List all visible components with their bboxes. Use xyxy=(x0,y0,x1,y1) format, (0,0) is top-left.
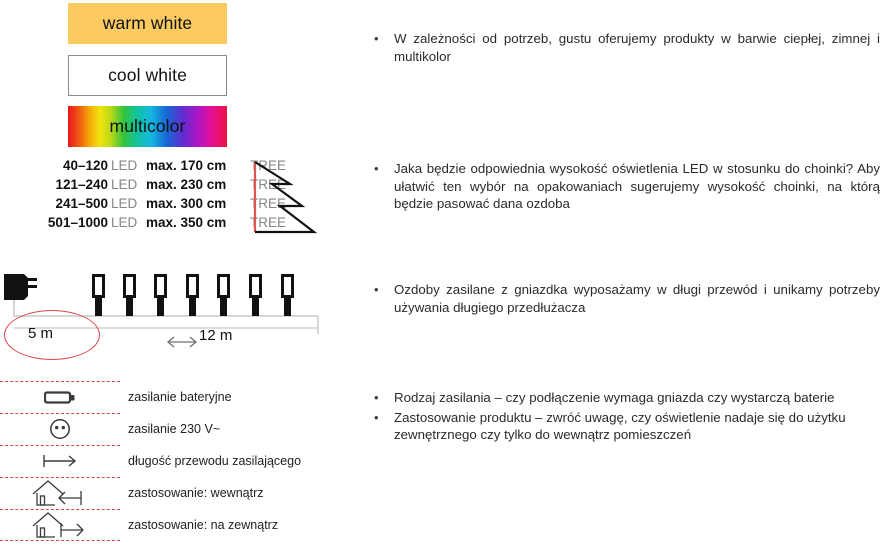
list-item: • Jaka będzie odpowiednia wysokość oświe… xyxy=(368,160,880,213)
symbol-legend: zasilanie bateryjne zasilanie 230 V~ xyxy=(0,381,330,541)
swatch-multicolor: multicolor xyxy=(68,106,227,147)
bullet-text: Zastosowanie produktu – zwróć uwagę, czy… xyxy=(394,409,880,444)
led-unit: LED xyxy=(108,158,146,173)
bulb xyxy=(249,274,262,316)
legend-label: zasilanie bateryjne xyxy=(120,390,232,404)
battery-icon xyxy=(0,389,120,405)
legend-row-socket: zasilanie 230 V~ xyxy=(0,413,330,445)
bulb xyxy=(92,274,105,316)
led-unit: LED xyxy=(108,196,146,211)
bulb-group xyxy=(92,274,294,316)
led-height: max. 350 cm xyxy=(146,215,250,230)
legend-row-indoor: zastosowanie: wewnątrz xyxy=(0,477,330,509)
led-count: 241–500 xyxy=(0,196,108,211)
legend-divider xyxy=(0,413,120,414)
led-unit: LED xyxy=(108,215,146,230)
legend-label: zasilanie 230 V~ xyxy=(120,422,220,436)
bulb xyxy=(186,274,199,316)
legend-divider xyxy=(0,509,120,510)
legend-divider xyxy=(0,445,120,446)
house-outdoor-icon xyxy=(0,510,120,540)
bullet-text: Rodzaj zasilania – czy podłączenie wymag… xyxy=(394,389,880,407)
legend-row-outdoor: zastosowanie: na zewnątrz xyxy=(0,509,330,541)
legend-divider xyxy=(0,381,120,382)
led-height: max. 300 cm xyxy=(146,196,250,211)
bullet-dot: • xyxy=(368,409,394,426)
led-height-table: 40–120 LED max. 170 cm TREE 121–240 LED … xyxy=(0,158,330,234)
right-text-column: • W zależności od potrzeb, gustu oferuje… xyxy=(368,0,880,552)
bullet-text: Ozdoby zasilane z gniazdka wyposażamy w … xyxy=(394,281,880,316)
list-item: • Ozdoby zasilane z gniazdka wyposażamy … xyxy=(368,281,880,316)
swatch-multicolor-label: multicolor xyxy=(110,116,186,137)
christmas-tree-icon xyxy=(250,158,320,240)
led-height: max. 230 cm xyxy=(146,177,250,192)
led-count: 121–240 xyxy=(0,177,108,192)
legend-divider xyxy=(0,540,120,541)
list-item: • Zastosowanie produktu – zwróć uwagę, c… xyxy=(368,409,880,444)
bullet-block-height: • Jaka będzie odpowiednia wysokość oświe… xyxy=(368,160,880,215)
bulb xyxy=(154,274,167,316)
bullet-dot: • xyxy=(368,30,394,47)
led-height: max. 170 cm xyxy=(146,158,250,173)
bulb xyxy=(217,274,230,316)
swatch-warm-white: warm white xyxy=(68,3,227,44)
bullet-dot: • xyxy=(368,281,394,298)
lit-length-value: 12 m xyxy=(199,327,232,344)
swatch-warm-white-label: warm white xyxy=(103,13,193,34)
legend-row-battery: zasilanie bateryjne xyxy=(0,381,330,413)
product-info-infographic: warm white cool white multicolor 40–120 … xyxy=(0,0,880,552)
power-socket-icon xyxy=(0,416,120,442)
bulb xyxy=(281,274,294,316)
legend-divider xyxy=(0,477,120,478)
power-plug-icon xyxy=(4,274,37,300)
bullet-dot: • xyxy=(368,389,394,406)
legend-label: zastosowanie: wewnątrz xyxy=(120,486,263,500)
led-unit: LED xyxy=(108,177,146,192)
led-count: 40–120 xyxy=(0,158,108,173)
list-item: • W zależności od potrzeb, gustu oferuje… xyxy=(368,30,880,65)
swatch-cool-white: cool white xyxy=(68,55,227,96)
bullet-dot: • xyxy=(368,160,394,177)
bullet-block-colors: • W zależności od potrzeb, gustu oferuje… xyxy=(368,30,880,67)
house-indoor-icon xyxy=(0,478,120,508)
cable-length-icon xyxy=(0,452,120,470)
left-illustration-column: warm white cool white multicolor 40–120 … xyxy=(0,0,350,552)
length-arrow-icon xyxy=(168,337,196,347)
bullet-text: Jaka będzie odpowiednia wysokość oświetl… xyxy=(394,160,880,213)
legend-label: długość przewodu zasilającego xyxy=(120,454,301,468)
list-item: • Rodzaj zasilania – czy podłączenie wym… xyxy=(368,389,880,407)
led-count: 501–1000 xyxy=(0,215,108,230)
bulb xyxy=(123,274,136,316)
cable-length-value: 5 m xyxy=(28,325,53,342)
legend-label: zastosowanie: na zewnątrz xyxy=(120,518,278,532)
bullet-text: W zależności od potrzeb, gustu oferujemy… xyxy=(394,30,880,65)
swatch-cool-white-label: cool white xyxy=(108,65,187,86)
legend-row-cable-length: długość przewodu zasilającego xyxy=(0,445,330,477)
bullet-block-power-usage: • Rodzaj zasilania – czy podłączenie wym… xyxy=(368,389,880,446)
bullet-block-cable: • Ozdoby zasilane z gniazdka wyposażamy … xyxy=(368,281,880,318)
